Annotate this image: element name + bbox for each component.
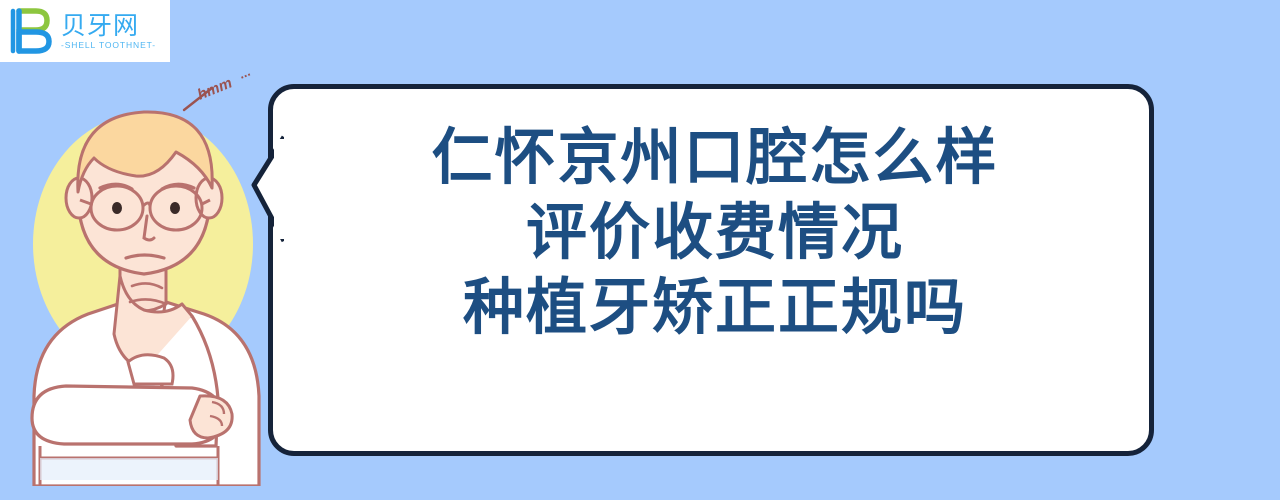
brand-b-logo-icon bbox=[6, 7, 58, 55]
logo-chinese-name: 贝牙网 bbox=[61, 12, 156, 39]
logo-english-name: -SHELL TOOTHNET- bbox=[61, 40, 156, 51]
logo-text-group: 贝牙网 -SHELL TOOTHNET- bbox=[61, 12, 156, 51]
thinking-man-illustration: hmm ... bbox=[16, 66, 286, 486]
svg-text:...: ... bbox=[237, 66, 253, 82]
site-logo[interactable]: 贝牙网 -SHELL TOOTHNET- bbox=[0, 0, 170, 62]
eye-right bbox=[170, 202, 180, 214]
banner: 贝牙网 -SHELL TOOTHNET- bbox=[0, 0, 1280, 500]
speech-bubble-tail bbox=[238, 133, 284, 245]
title-line-1: 仁怀京州口腔怎么样 bbox=[290, 120, 1140, 195]
banner-title: 仁怀京州口腔怎么样 评价收费情况 种植牙矫正正规吗 bbox=[290, 120, 1140, 345]
title-line-3: 种植牙矫正正规吗 bbox=[290, 270, 1140, 345]
hmm-thought-text: hmm ... bbox=[194, 66, 254, 104]
title-line-2: 评价收费情况 bbox=[290, 195, 1140, 270]
svg-text:hmm: hmm bbox=[195, 74, 235, 103]
eye-left bbox=[112, 202, 122, 214]
